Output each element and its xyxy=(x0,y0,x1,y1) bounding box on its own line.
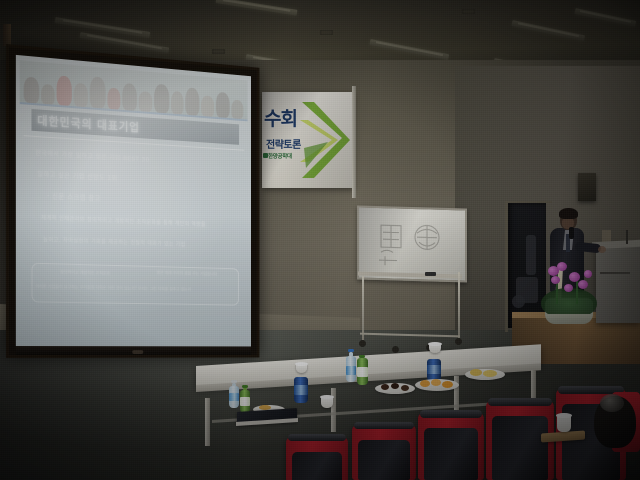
green-chevron-logo-icon xyxy=(298,98,352,182)
chip-plate xyxy=(465,369,505,380)
ceiling-light-fixture xyxy=(79,32,169,54)
banner-bullet-icon xyxy=(263,153,268,158)
slide-body-line: 체계적 인재관리와 창의적이고 개방적인 조직문화를 통해 개인의 역량을 xyxy=(41,213,206,228)
ceiling-vent-icon xyxy=(462,9,475,14)
slide-body-line: 일하고 싶은 기업 선망도 1위 xyxy=(37,169,117,182)
lectern-panel-line xyxy=(600,272,630,274)
projection-screen: 대한민국의 대표기업 한국에서 가장 일하고 싶은 기업 BEST 30 일하고… xyxy=(6,44,259,358)
paper-cup xyxy=(321,396,333,408)
seated-attendee-hair-highlight xyxy=(600,394,624,412)
whiteboard-stand-leg xyxy=(458,272,460,338)
orchid-bloom xyxy=(564,284,573,292)
lectern-microphone-icon xyxy=(626,230,628,244)
banner-title: 수회 xyxy=(264,104,297,131)
snack-item xyxy=(401,385,409,391)
whiteboard-caster-wheel xyxy=(392,346,399,353)
screen-pull-knob xyxy=(132,350,143,354)
screen-mount-pole xyxy=(3,24,11,46)
paper-cup xyxy=(557,414,571,432)
paper-cup xyxy=(429,343,441,353)
banner-hanging-rod xyxy=(352,86,356,198)
presenter-hair xyxy=(559,208,578,219)
handheld-microphone-icon xyxy=(569,227,574,239)
ceiling-light-fixture xyxy=(574,8,636,27)
projection-screen-surface: 대한민국의 대표기업 한국에서 가장 일하고 싶은 기업 BEST 30 일하고… xyxy=(16,55,251,347)
orchid-bloom xyxy=(578,280,588,289)
orchid-bloom xyxy=(551,276,560,284)
whiteboard xyxy=(357,205,467,282)
snack-plate xyxy=(375,383,415,394)
whiteboard-marker xyxy=(425,272,436,276)
whiteboard-caster-wheel xyxy=(359,340,366,347)
ceiling-light-fixture xyxy=(511,20,585,41)
lectern xyxy=(596,245,640,323)
slide-body-line: - 신문 스크랩 참고 xyxy=(47,190,101,202)
ceiling-light-fixture xyxy=(369,39,449,60)
snack-item xyxy=(381,384,389,390)
screen-bottom-bar xyxy=(16,346,251,355)
banner-organization: 한양공학대 xyxy=(268,152,292,160)
slide-body-line: 한국에서 가장 일하고 싶은 기업 BEST 30 xyxy=(35,148,149,164)
chip-item xyxy=(470,369,482,376)
doorway-object xyxy=(526,235,536,275)
fruit-plate xyxy=(415,379,459,391)
chip-item xyxy=(483,370,497,377)
whiteboard-caster-wheel xyxy=(455,338,462,345)
fruit-item xyxy=(442,381,453,388)
table-leg xyxy=(205,398,210,446)
fruit-item xyxy=(431,379,441,386)
orchid-bloom xyxy=(584,270,592,278)
fruit-item xyxy=(420,380,430,387)
wall-speaker-icon xyxy=(578,173,596,201)
banner-subtitle: 전략토론 xyxy=(266,136,301,151)
ceiling-vent-icon xyxy=(320,30,333,35)
ceiling-light-fixture xyxy=(55,17,151,38)
conference-hall-photo: 수회 전략토론 한양공학대 xyxy=(0,0,640,480)
whiteboard-writing xyxy=(359,208,465,281)
ceiling-vent-icon xyxy=(212,49,225,54)
presenter-hand xyxy=(598,246,606,253)
orchid-bloom xyxy=(557,262,567,271)
paper-cup xyxy=(296,363,307,373)
slide-note-line: 창의적이고 개방적인 조직문화 xyxy=(60,269,110,276)
ceiling-light-fixture xyxy=(216,0,298,16)
snack-item xyxy=(391,383,399,389)
event-banner: 수회 전략토론 한양공학대 xyxy=(262,92,354,188)
presentation-slide: 대한민국의 대표기업 한국에서 가장 일하고 싶은 기업 BEST 30 일하고… xyxy=(16,55,251,347)
whiteboard-stand-leg xyxy=(362,276,364,340)
slide-body-line: 높이고, 자아실현의 기회를 제공하는 친밀적 대화가 있는 기업 xyxy=(43,235,185,248)
doorway-object xyxy=(512,295,525,308)
